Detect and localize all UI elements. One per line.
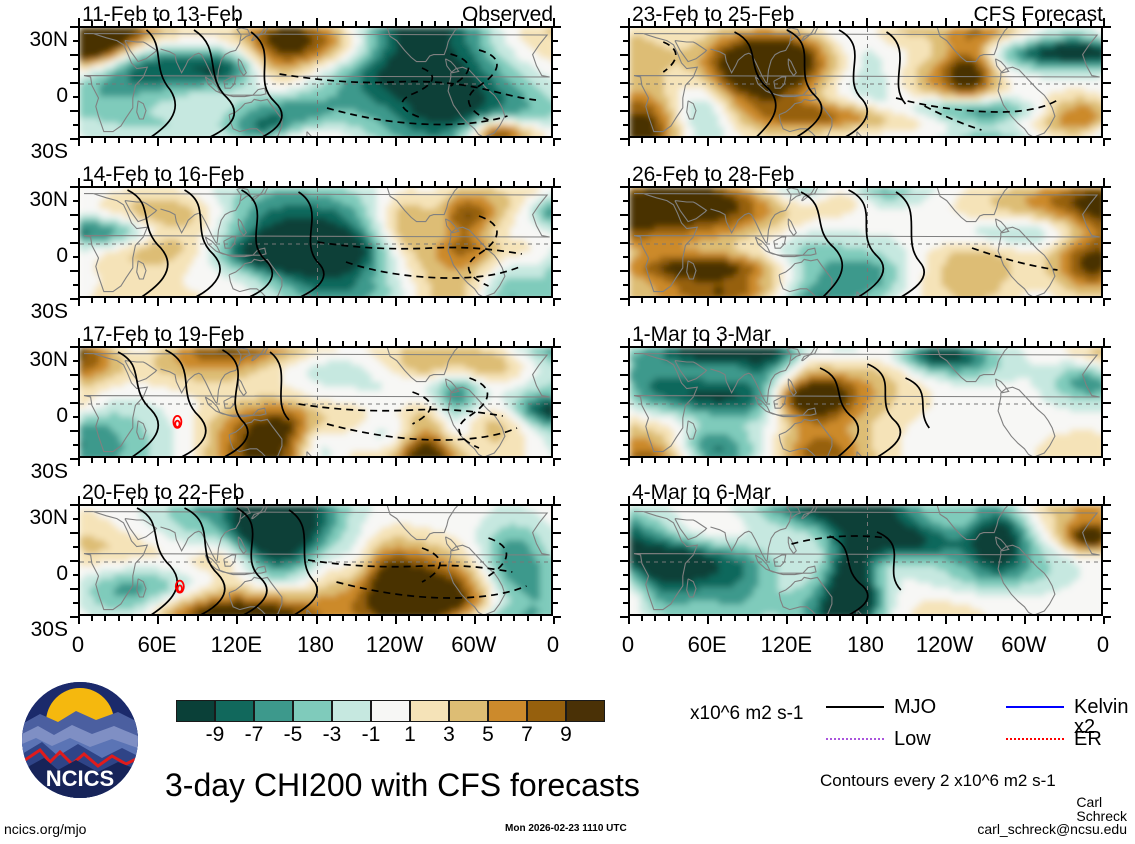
axis-tick [210,458,212,463]
axis-tick [623,444,628,446]
axis-tick [342,616,344,621]
axis-tick [289,21,291,26]
axis-tick [553,200,558,202]
axis-tick [1103,68,1108,70]
axis-tick [628,496,630,504]
axis-tick [866,178,868,186]
axis-tick [1011,21,1013,26]
axis-tick [971,499,973,504]
axis-tick [104,458,106,463]
axis-tick [368,138,370,143]
legend-line-mjo [826,706,884,708]
axis-tick [210,21,212,26]
axis-tick [104,181,106,186]
axis-tick [78,18,80,26]
axis-tick [1103,96,1108,98]
axis-tick [118,298,120,303]
y-tick-label: 30N [0,29,68,50]
axis-tick [527,298,529,303]
axis-tick [623,68,628,70]
axis-tick [184,616,186,621]
axis-tick [553,574,558,576]
axis-tick [1011,458,1013,463]
x-tick-label: 60W [429,634,519,656]
axis-tick [1103,242,1111,244]
axis-tick [131,298,133,303]
axis-tick [447,138,449,143]
axis-tick [945,138,947,146]
axis-tick [553,26,561,28]
axis-tick [1050,181,1052,186]
axis-tick [73,68,78,70]
axis-tick [78,338,80,346]
axis-tick [184,499,186,504]
axis-tick [694,341,696,346]
axis-tick [197,21,199,26]
axis-tick [931,616,933,621]
contour-note: Contours every 2 x10^6 m2 s-1 [820,772,1056,789]
axis-tick [1103,138,1111,140]
axis-tick [553,430,561,432]
y-tick-label: 30N [0,189,68,210]
axis-tick [620,532,628,534]
axis-tick [368,341,370,346]
axis-tick [553,54,561,56]
axis-tick [236,178,238,186]
axis-tick [70,82,78,84]
axis-tick [747,21,749,26]
axis-tick [250,616,252,621]
axis-tick [553,124,558,126]
axis-tick [1090,458,1092,463]
axis-tick [747,138,749,143]
axis-tick [620,298,628,300]
axis-tick [734,181,736,186]
axis-tick [553,518,558,520]
axis-tick [879,341,881,346]
axis-tick [316,178,318,186]
axis-tick [447,616,449,621]
axis-tick [1077,499,1079,504]
axis-tick [236,616,238,624]
axis-tick [395,138,397,146]
axis-tick [839,181,841,186]
axis-tick [553,186,561,188]
axis-tick [720,458,722,463]
axis-tick [144,616,146,621]
axis-tick [800,341,802,346]
axis-tick [1063,341,1065,346]
axis-tick [866,338,868,346]
axis-tick [381,341,383,346]
axis-tick [500,181,502,186]
axis-tick [170,21,172,26]
map-panel-1 [78,26,553,138]
axis-tick [654,298,656,303]
axis-tick [118,181,120,186]
axis-tick [760,21,762,26]
axis-tick [839,21,841,26]
axis-tick [826,458,828,463]
axis-tick [694,21,696,26]
axis-tick [540,21,542,26]
axis-tick [623,228,628,230]
site-url-link[interactable]: ncics.org/mjo [4,822,86,836]
axis-tick [826,21,828,26]
axis-tick [620,54,628,56]
axis-tick [641,499,643,504]
axis-tick [553,388,558,390]
axis-tick [905,341,907,346]
axis-tick [773,341,775,346]
axis-tick [654,458,656,463]
x-tick-label: 0 [1058,634,1135,656]
axis-tick [434,298,436,303]
axis-tick [997,21,999,26]
axis-tick [1103,200,1108,202]
axis-tick [553,68,558,70]
axis-tick [1103,346,1111,348]
axis-tick [408,499,410,504]
axis-tick [487,138,489,143]
axis-tick [945,18,947,26]
axis-tick [263,181,265,186]
axis-tick [681,181,683,186]
axis-tick [945,178,947,186]
axis-tick [474,18,476,26]
axis-tick [487,616,489,621]
axis-tick [786,338,788,346]
axis-tick [70,504,78,506]
axis-tick [641,21,643,26]
axis-tick [1103,518,1108,520]
axis-tick [355,181,357,186]
axis-tick [1011,341,1013,346]
axis-tick [623,96,628,98]
axis-tick [553,40,558,42]
axis-tick [487,341,489,346]
colorbar-swatch [566,700,605,722]
axis-tick [302,616,304,621]
axis-tick [905,616,907,621]
axis-tick [157,138,159,146]
axis-tick [892,458,894,463]
axis-tick [707,496,709,504]
axis-tick [197,181,199,186]
axis-tick [958,341,960,346]
axis-tick [395,496,397,504]
axis-tick [958,298,960,303]
axis-tick [786,616,788,624]
axis-tick [984,341,986,346]
axis-tick [879,499,881,504]
axis-tick [813,181,815,186]
axis-tick [316,458,318,466]
axis-tick [866,458,868,466]
axis-tick [70,346,78,348]
axis-tick [408,138,410,143]
axis-tick [236,298,238,306]
axis-tick [694,181,696,186]
axis-tick [91,341,93,346]
axis-tick [905,298,907,303]
page-title: 3-day CHI200 with CFS forecasts [165,769,640,801]
axis-tick [852,341,854,346]
axis-tick [210,298,212,303]
axis-tick [104,298,106,303]
axis-tick [623,284,628,286]
axis-tick [500,341,502,346]
axis-tick [104,138,106,143]
axis-tick [707,458,709,466]
axis-tick [654,499,656,504]
y-tick-label: 0 [0,405,68,426]
axis-tick [553,138,561,140]
axis-tick [210,181,212,186]
axis-tick [786,298,788,306]
axis-tick [997,298,999,303]
x-tick-label: 120W [350,634,440,656]
axis-tick [250,458,252,463]
axis-tick [236,496,238,504]
axis-tick [381,138,383,143]
axis-tick [720,181,722,186]
axis-tick [553,444,558,446]
axis-tick [813,458,815,463]
axis-tick [368,21,370,26]
axis-tick [553,496,555,504]
axis-tick [918,499,920,504]
axis-tick [513,616,515,621]
axis-tick [381,181,383,186]
axis-tick [892,616,894,621]
axis-tick [395,178,397,186]
axis-tick [170,341,172,346]
axis-tick [931,181,933,186]
axis-tick [1103,388,1108,390]
axis-tick [223,21,225,26]
axis-tick [1077,181,1079,186]
axis-tick [500,499,502,504]
axis-tick [236,138,238,146]
axis-tick [984,298,986,303]
axis-tick [395,338,397,346]
axis-tick [91,458,93,463]
contact-email-link[interactable]: carl_schreck@ncsu.edu [977,822,1135,836]
axis-tick [945,616,947,624]
axis-tick [540,138,542,143]
axis-tick [971,138,973,143]
axis-tick [540,499,542,504]
axis-tick [170,616,172,621]
axis-tick [302,181,304,186]
axis-tick [1063,138,1065,143]
axis-tick [73,416,78,418]
axis-tick [747,499,749,504]
axis-tick [170,138,172,143]
axis-tick [223,298,225,303]
axis-tick [553,242,561,244]
axis-tick [654,181,656,186]
axis-tick [826,499,828,504]
axis-tick [620,242,628,244]
y-tick-label: 0 [0,563,68,584]
axis-tick [905,499,907,504]
x-tick-label: 120E [191,634,281,656]
axis-tick [984,21,986,26]
axis-tick [852,616,854,621]
axis-tick [839,616,841,621]
axis-tick [773,499,775,504]
axis-tick [1103,532,1111,534]
axis-tick [945,338,947,346]
axis-tick [1077,458,1079,463]
axis-tick [1024,298,1026,306]
axis-tick [1011,181,1013,186]
axis-tick [131,458,133,463]
axis-tick [408,21,410,26]
axis-tick [931,458,933,463]
axis-tick [668,458,670,463]
axis-tick [694,458,696,463]
axis-tick [620,430,628,432]
axis-tick [329,458,331,463]
axis-tick [747,458,749,463]
axis-tick [408,298,410,303]
axis-tick [623,124,628,126]
axis-tick [628,616,630,624]
axis-tick [971,458,973,463]
axis-tick [879,138,881,143]
axis-tick [329,341,331,346]
axis-tick [1103,228,1108,230]
axis-tick [73,40,78,42]
axis-tick [513,21,515,26]
axis-tick [118,138,120,143]
axis-tick [800,458,802,463]
axis-tick [879,21,881,26]
axis-tick [157,496,159,504]
axis-tick [1050,458,1052,463]
axis-tick [157,338,159,346]
axis-tick [773,138,775,143]
axis-tick [747,341,749,346]
axis-tick [263,458,265,463]
axis-tick [623,200,628,202]
axis-tick [984,138,986,143]
map-panel-3 [78,346,553,458]
axis-tick [786,178,788,186]
axis-tick [1037,499,1039,504]
axis-tick [73,360,78,362]
axis-tick [800,499,802,504]
axis-tick [1077,616,1079,621]
axis-tick [500,21,502,26]
axis-tick [866,138,868,146]
axis-tick [223,499,225,504]
axis-tick [623,602,628,604]
axis-tick [1037,458,1039,463]
axis-tick [118,341,120,346]
axis-tick [720,341,722,346]
axis-tick [513,499,515,504]
axis-tick [971,181,973,186]
y-tick-label: 30S [0,301,68,322]
axis-tick [1037,298,1039,303]
axis-tick [342,298,344,303]
axis-tick [447,499,449,504]
axis-tick [434,499,436,504]
axis-tick [316,338,318,346]
axis-tick [210,138,212,143]
axis-tick [760,616,762,621]
axis-tick [104,499,106,504]
axis-tick [681,616,683,621]
axis-tick [1077,298,1079,303]
axis-tick [223,138,225,143]
map-panel-4 [78,504,553,616]
axis-tick [620,588,628,590]
axis-tick [553,360,558,362]
axis-tick [73,546,78,548]
axis-tick [1103,374,1111,376]
axis-tick [131,21,133,26]
axis-tick [1103,616,1111,618]
axis-tick [276,181,278,186]
axis-tick [395,298,397,306]
axis-tick [210,616,212,621]
axis-tick [553,284,558,286]
axis-tick [434,21,436,26]
axis-tick [918,616,920,621]
axis-tick [91,616,93,621]
axis-tick [620,26,628,28]
axis-tick [527,616,529,621]
axis-tick [131,138,133,143]
axis-tick [866,298,868,306]
axis-tick [263,298,265,303]
axis-tick [73,96,78,98]
axis-tick [1024,458,1026,466]
legend-label-mjo: MJO [894,697,936,717]
axis-tick [760,458,762,463]
axis-tick [866,496,868,504]
axis-tick [734,616,736,621]
axis-tick [1103,26,1111,28]
axis-tick [931,298,933,303]
axis-tick [131,341,133,346]
axis-tick [1090,298,1092,303]
x-tick-label: 60W [979,634,1069,656]
axis-tick [553,270,561,272]
axis-tick [958,21,960,26]
author-name: Carl Schreck [1076,795,1135,823]
axis-tick [852,21,854,26]
axis-tick [73,200,78,202]
axis-tick [474,298,476,306]
axis-tick [623,256,628,258]
colorbar [176,700,605,724]
axis-tick [1103,588,1111,590]
axis-tick [839,138,841,143]
axis-tick [527,21,529,26]
axis-tick [668,298,670,303]
axis-tick [786,18,788,26]
axis-tick [355,616,357,621]
axis-tick [70,532,78,534]
axis-tick [408,616,410,621]
axis-tick [210,341,212,346]
